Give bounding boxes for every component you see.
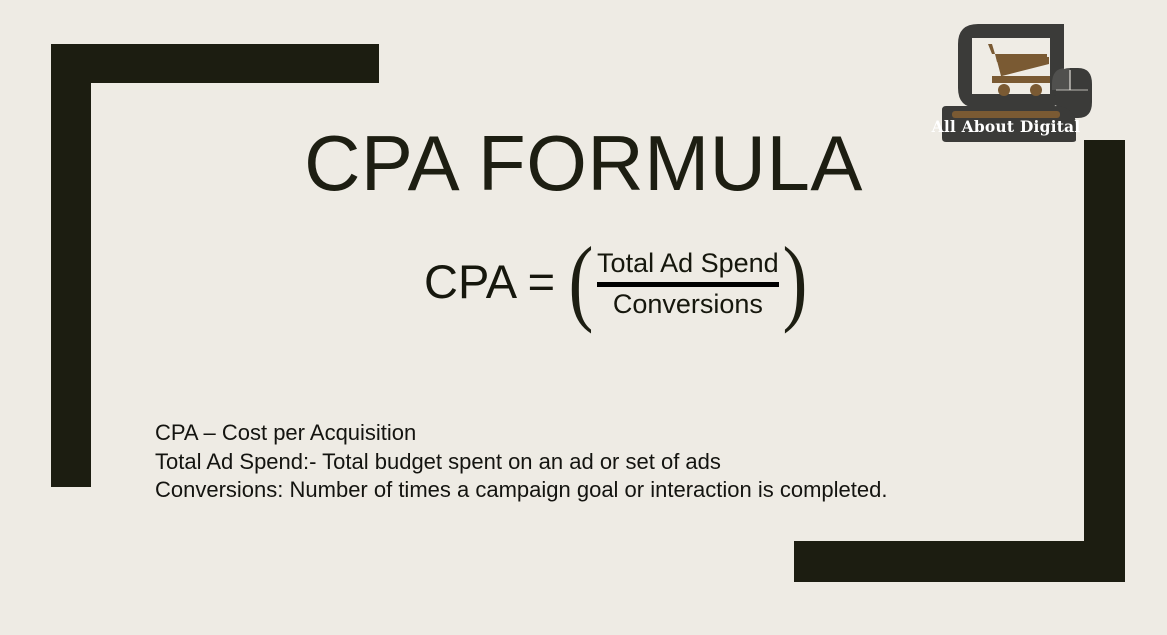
formula-fraction: Total Ad Spend Conversions [597,248,779,318]
formula-fraction-bar [597,282,779,287]
definition-line-conversions: Conversions: Number of times a campaign … [155,476,887,505]
cpa-formula: CPA = ( Total Ad Spend Conversions ) [424,246,809,321]
slide-canvas: CPA FORMULA CPA = ( Total Ad Spend Conve… [0,0,1167,635]
all-about-digital-logo: All About Digital [936,18,1094,144]
definition-line-total-ad-spend: Total Ad Spend:- Total budget spent on a… [155,448,887,477]
definitions-block: CPA – Cost per Acquisition Total Ad Spen… [155,419,887,505]
formula-numerator: Total Ad Spend [597,248,779,278]
corner-bracket-top-left-vertical [51,44,91,487]
formula-close-paren: ) [782,246,807,321]
formula-open-paren: ( [569,246,594,321]
corner-bracket-bottom-right-horizontal [794,541,1125,582]
definition-line-cpa: CPA – Cost per Acquisition [155,419,887,448]
logo-artwork [936,18,1094,144]
formula-denominator: Conversions [613,289,763,319]
formula-left-hand-side: CPA = [424,258,555,309]
corner-bracket-top-left-horizontal [51,44,379,83]
keyboard-bar [952,111,1060,118]
corner-bracket-bottom-right-vertical [1084,140,1125,582]
